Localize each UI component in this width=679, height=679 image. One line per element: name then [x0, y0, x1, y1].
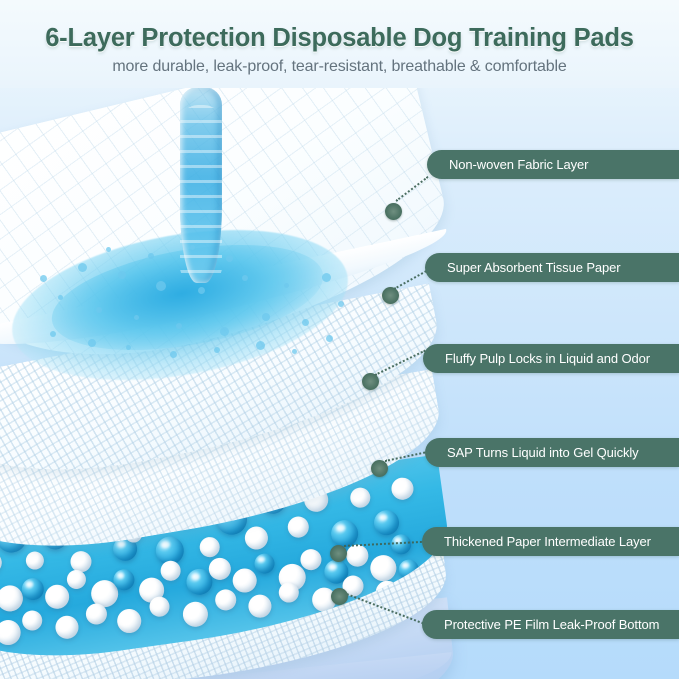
sap-bead	[25, 550, 45, 570]
callout-dot-marker	[385, 203, 402, 220]
water-droplet	[292, 349, 297, 354]
sap-bead	[349, 486, 372, 509]
water-droplet	[40, 275, 47, 282]
callout-label: Super Absorbent Tissue Paper	[425, 260, 621, 275]
water-droplet	[148, 253, 154, 259]
water-droplet	[118, 271, 126, 279]
sap-bead	[345, 543, 370, 568]
water-droplet	[170, 351, 177, 358]
sap-bead	[116, 607, 143, 634]
callout-dot-marker	[362, 373, 379, 390]
water-droplet	[326, 335, 333, 342]
water-droplet	[58, 295, 63, 300]
water-droplet	[96, 307, 102, 313]
sap-bead	[148, 595, 171, 618]
callout-pill-2[interactable]: Super Absorbent Tissue Paper	[425, 253, 679, 282]
water-droplet	[226, 255, 233, 262]
sap-bead	[253, 552, 276, 575]
water-stream-rings	[180, 105, 222, 285]
water-droplet	[50, 331, 56, 337]
sap-bead	[214, 588, 238, 612]
water-droplet	[242, 275, 248, 281]
infographic-canvas: 6-Layer Protection Disposable Dog Traini…	[0, 0, 679, 679]
sap-bead	[159, 559, 182, 582]
water-droplet	[256, 341, 265, 350]
water-droplet	[214, 347, 220, 353]
sap-bead	[54, 614, 80, 640]
callout-label: SAP Turns Liquid into Gel Quickly	[425, 445, 639, 460]
callout-dot-marker	[331, 588, 348, 605]
sap-bead	[372, 509, 400, 537]
sap-bead	[286, 515, 310, 539]
page-title: 6-Layer Protection Disposable Dog Traini…	[0, 24, 679, 53]
water-droplet	[190, 245, 195, 250]
water-droplet	[220, 327, 229, 336]
water-droplet	[176, 323, 182, 329]
page-subtitle: more durable, leak-proof, tear-resistant…	[0, 58, 679, 76]
sap-bead	[247, 593, 273, 619]
callout-pill-1[interactable]: Non-woven Fabric Layer	[427, 150, 679, 179]
callout-pill-5[interactable]: Thickened Paper Intermediate Layer	[422, 527, 679, 556]
sap-bead	[0, 550, 3, 575]
water-droplet	[198, 287, 205, 294]
header-band: 6-Layer Protection Disposable Dog Traini…	[0, 0, 679, 88]
sap-bead	[243, 525, 269, 551]
water-droplet	[302, 319, 309, 326]
callout-dot-marker	[371, 460, 388, 477]
callout-pill-4[interactable]: SAP Turns Liquid into Gel Quickly	[425, 438, 679, 467]
callout-label: Non-woven Fabric Layer	[427, 157, 588, 172]
sap-bead	[181, 600, 209, 628]
water-splash-graphic	[30, 95, 360, 355]
water-droplet	[284, 283, 289, 288]
sap-bead	[198, 536, 221, 559]
sap-bead	[66, 569, 87, 590]
callout-dot-marker	[330, 545, 347, 562]
sap-bead	[231, 567, 258, 594]
callout-label: Protective PE Film Leak-Proof Bottom	[422, 617, 659, 632]
callout-pill-6[interactable]: Protective PE Film Leak-Proof Bottom	[422, 610, 679, 639]
water-droplet	[126, 345, 131, 350]
water-droplet	[134, 315, 139, 320]
water-droplet	[322, 273, 331, 282]
water-droplet	[156, 281, 166, 291]
sap-bead	[20, 577, 45, 602]
water-droplet	[262, 313, 270, 321]
callout-label: Thickened Paper Intermediate Layer	[422, 534, 651, 549]
water-droplet	[338, 301, 344, 307]
callout-dot-marker	[382, 287, 399, 304]
callout-pill-3[interactable]: Fluffy Pulp Locks in Liquid and Odor	[423, 344, 679, 373]
sap-bead	[369, 553, 398, 582]
sap-bead	[390, 476, 415, 501]
water-droplet	[106, 247, 111, 252]
callout-label: Fluffy Pulp Locks in Liquid and Odor	[423, 351, 650, 366]
sap-bead	[0, 618, 22, 646]
water-droplet	[88, 339, 96, 347]
water-droplet	[78, 263, 87, 272]
sap-bead	[21, 609, 44, 632]
sap-bead	[44, 583, 71, 610]
